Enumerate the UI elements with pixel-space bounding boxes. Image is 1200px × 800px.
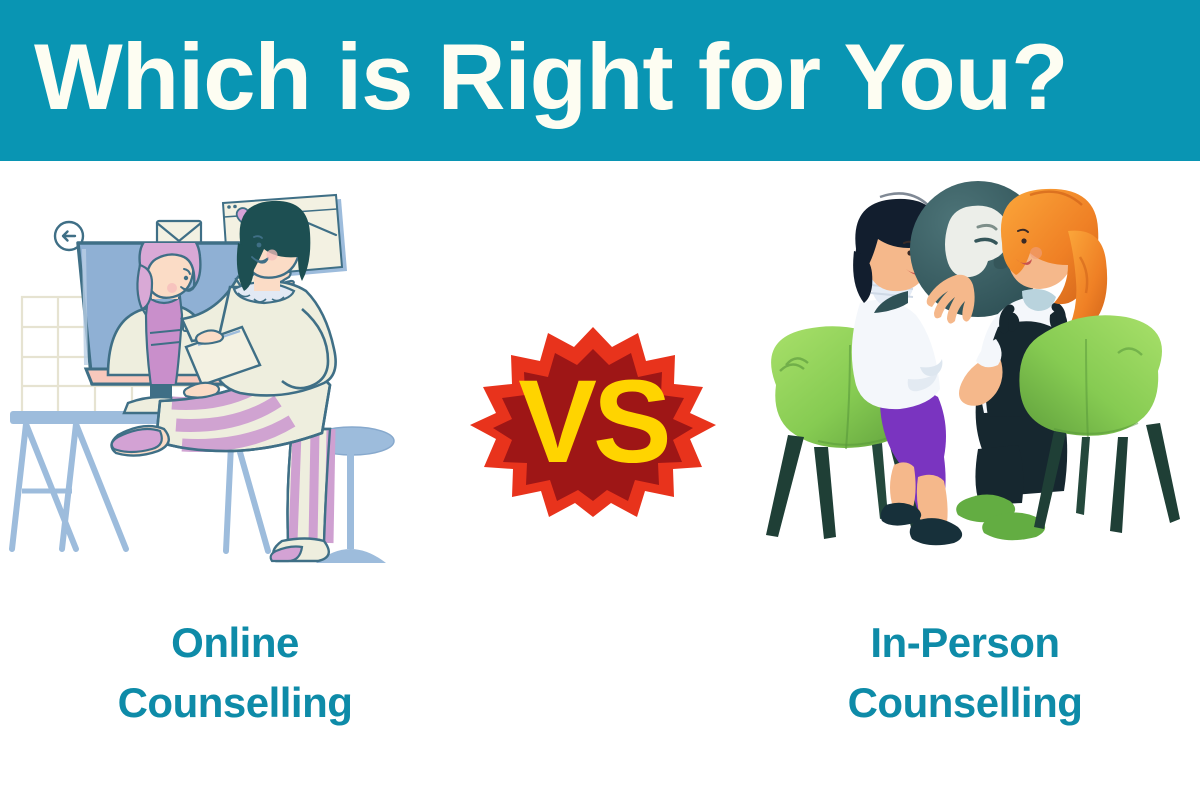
versus-badge: VS <box>462 321 724 517</box>
online-counselling-illustration <box>0 179 470 599</box>
caption-line-1: Online <box>0 613 470 673</box>
caption-line-2: Counselling <box>730 673 1200 733</box>
option-online-counselling[interactable]: Online Counselling <box>0 161 470 800</box>
in-person-counselling-illustration <box>730 179 1200 599</box>
caption-line-1: In-Person <box>730 613 1200 673</box>
option-in-person-caption: In-Person Counselling <box>730 613 1200 732</box>
header-banner: Which is Right for You? <box>0 0 1200 161</box>
caption-line-2: Counselling <box>0 673 470 733</box>
armchair-right <box>1019 315 1180 533</box>
comparison-area: Online Counselling VS <box>0 161 1200 800</box>
option-online-caption: Online Counselling <box>0 613 470 732</box>
option-in-person-counselling[interactable]: In-Person Counselling <box>730 161 1200 800</box>
versus-label: VS <box>518 356 668 488</box>
page-title: Which is Right for You? <box>34 30 1068 124</box>
